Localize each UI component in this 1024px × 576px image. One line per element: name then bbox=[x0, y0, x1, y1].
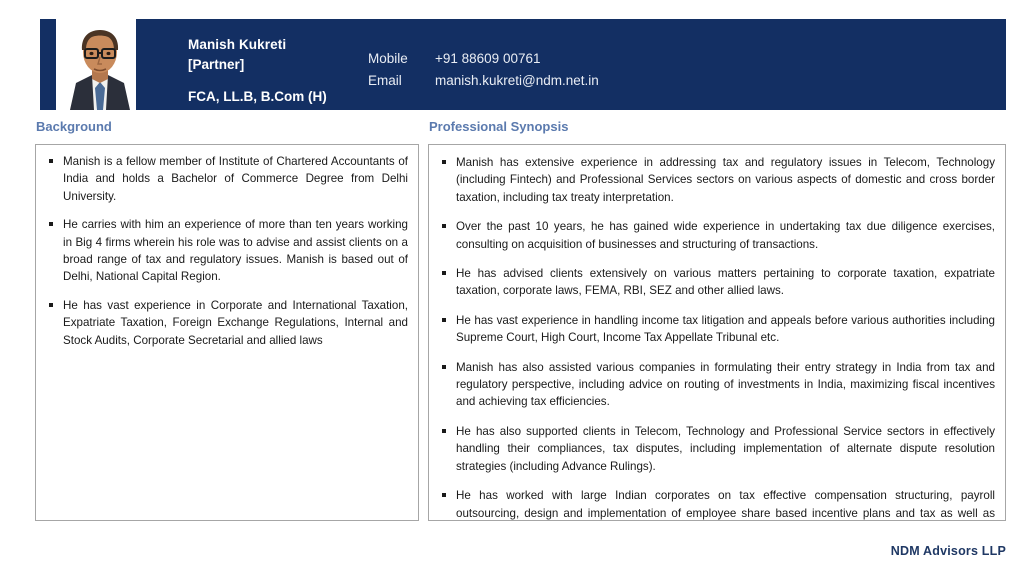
list-item: He carries with him an experience of mor… bbox=[46, 216, 408, 286]
email-value: manish.kukreti@ndm.net.in bbox=[435, 70, 599, 92]
avatar bbox=[64, 19, 136, 110]
background-bullet-list: Manish is a fellow member of Institute o… bbox=[36, 145, 418, 349]
list-item: He has advised clients extensively on va… bbox=[439, 265, 995, 300]
mobile-value: +91 88609 00761 bbox=[435, 48, 540, 70]
section-heading-background: Background bbox=[36, 119, 112, 134]
person-qualifications: FCA, LL.B, B.Com (H) bbox=[188, 87, 327, 107]
contact-row-email: Email manish.kukreti@ndm.net.in bbox=[368, 70, 599, 92]
list-item: He has vast experience in handling incom… bbox=[439, 312, 995, 347]
contact-details: Mobile +91 88609 00761 Email manish.kukr… bbox=[368, 48, 599, 92]
mobile-label: Mobile bbox=[368, 48, 435, 70]
background-content-box: Manish is a fellow member of Institute o… bbox=[35, 144, 419, 521]
contact-row-mobile: Mobile +91 88609 00761 bbox=[368, 48, 599, 70]
list-item: Over the past 10 years, he has gained wi… bbox=[439, 218, 995, 253]
list-item: He has worked with large Indian corporat… bbox=[439, 487, 995, 521]
list-item: Manish is a fellow member of Institute o… bbox=[46, 153, 408, 205]
synopsis-content-box: Manish has extensive experience in addre… bbox=[428, 144, 1006, 521]
list-item: He has vast experience in Corporate and … bbox=[46, 297, 408, 349]
profile-header-band: Manish Kukreti [Partner] FCA, LL.B, B.Co… bbox=[40, 19, 1006, 110]
header-navy-panel: Manish Kukreti [Partner] FCA, LL.B, B.Co… bbox=[136, 19, 1006, 110]
synopsis-bullet-list: Manish has extensive experience in addre… bbox=[429, 145, 1005, 521]
person-name: Manish Kukreti bbox=[188, 35, 327, 55]
list-item: He has also supported clients in Telecom… bbox=[439, 423, 995, 475]
list-item: Manish has extensive experience in addre… bbox=[439, 154, 995, 206]
email-label: Email bbox=[368, 70, 435, 92]
list-item: Manish has also assisted various compani… bbox=[439, 359, 995, 411]
person-designation: [Partner] bbox=[188, 55, 327, 75]
person-identity: Manish Kukreti [Partner] FCA, LL.B, B.Co… bbox=[188, 35, 327, 107]
footer-brand: NDM Advisors LLP bbox=[891, 544, 1006, 558]
section-heading-professional-synopsis: Professional Synopsis bbox=[429, 119, 568, 134]
navy-accent-bar-left bbox=[40, 19, 56, 110]
